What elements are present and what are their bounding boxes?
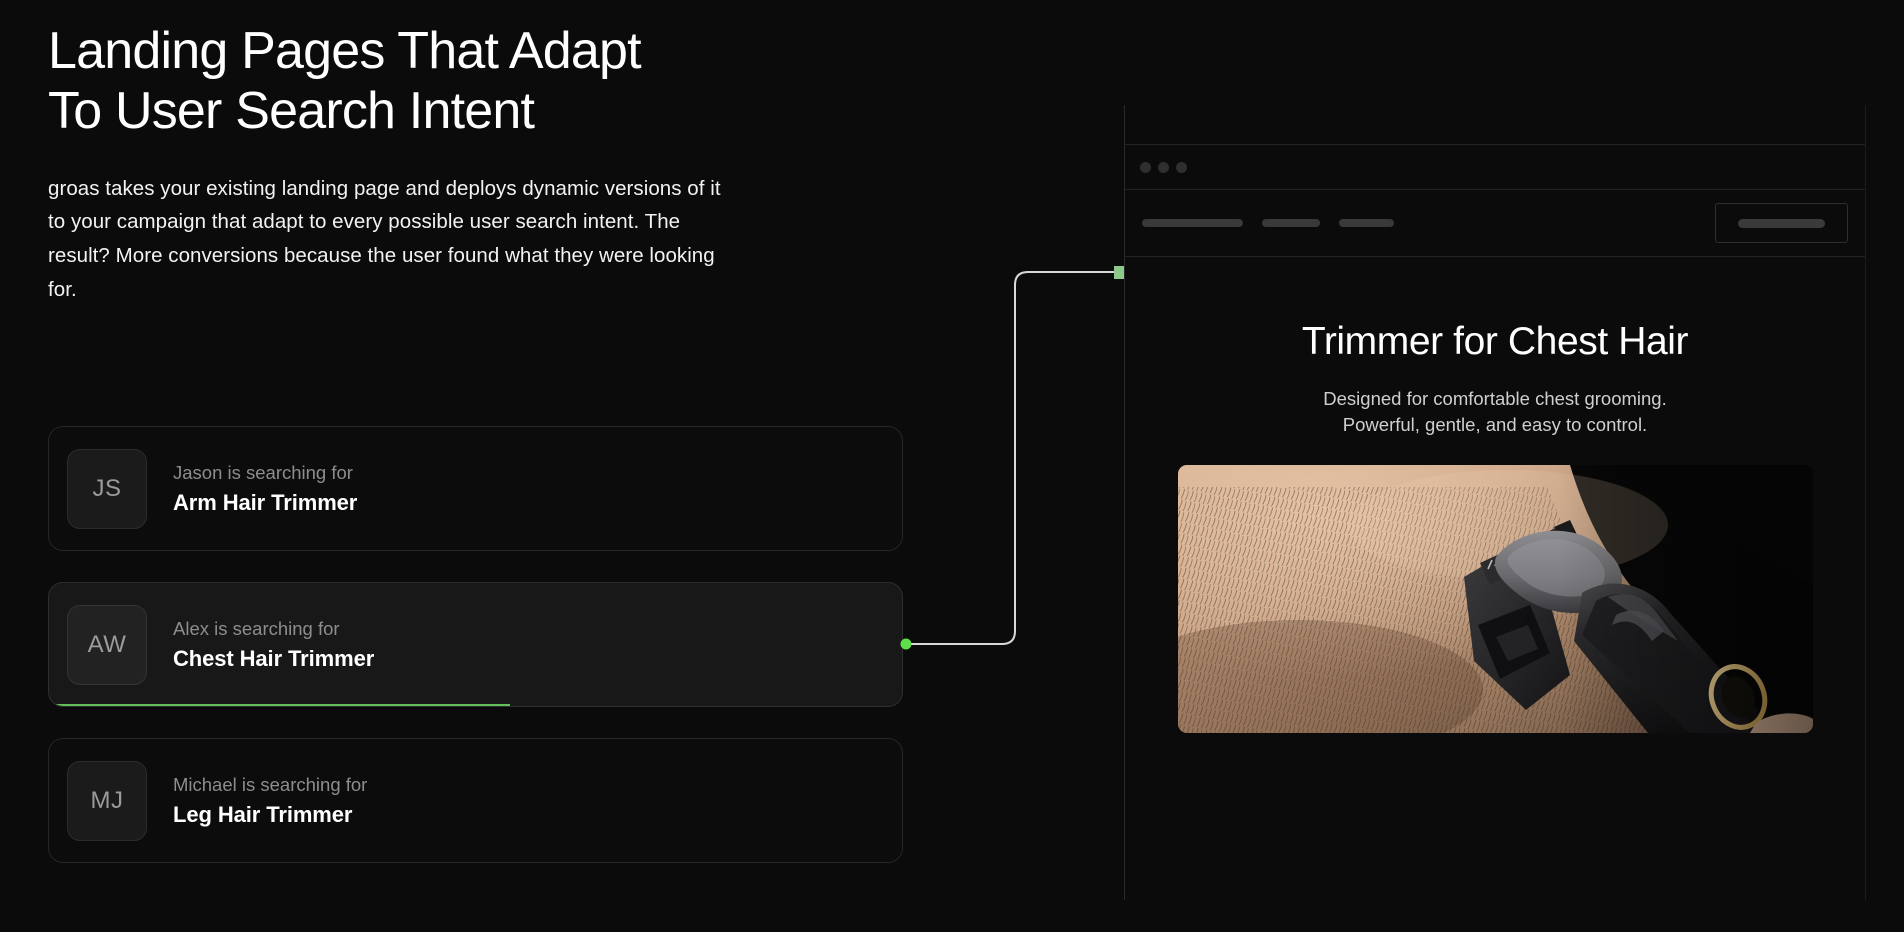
avatar: MJ [67,761,147,841]
browser-top-strip [1125,105,1865,145]
preview-navbar [1125,190,1865,257]
nav-cta-button[interactable] [1715,203,1848,243]
maximize-dot-icon[interactable] [1176,162,1187,173]
preview-page-title: Trimmer for Chest Hair [1125,321,1865,364]
page-title: Landing Pages That Adapt To User Search … [48,22,768,142]
product-image [1178,465,1813,733]
card-text-block: Alex is searching for Chest Hair Trimmer [173,617,374,673]
card-query: Chest Hair Trimmer [173,646,374,672]
search-intent-card-active[interactable]: AW Alex is searching for Chest Hair Trim… [48,582,903,707]
browser-window-controls [1125,145,1865,190]
card-query: Arm Hair Trimmer [173,490,357,516]
card-text-block: Jason is searching for Arm Hair Trimmer [173,461,357,517]
close-dot-icon[interactable] [1140,162,1151,173]
card-subtitle: Michael is searching for [173,773,367,798]
hero-copy-column: Landing Pages That Adapt To User Search … [48,22,908,307]
card-progress-bar [49,704,510,706]
card-subtitle: Alex is searching for [173,617,374,642]
nav-link-placeholder-1[interactable] [1142,219,1243,227]
headline-line-1: Landing Pages That Adapt [48,22,641,80]
search-intent-card[interactable]: JS Jason is searching for Arm Hair Trimm… [48,426,903,551]
avatar-initials: AW [88,631,127,659]
preview-subtitle-line-1: Designed for comfortable chest grooming. [1323,388,1666,409]
nav-link-placeholder-2[interactable] [1262,219,1320,227]
preview-subtitle-line-2: Powerful, gentle, and easy to control. [1125,412,1865,438]
nav-placeholder-links [1142,219,1394,227]
connector-path [880,240,1160,680]
nav-link-placeholder-3[interactable] [1339,219,1394,227]
hero-body-text: groas takes your existing landing page a… [48,172,738,307]
nav-cta-label-placeholder [1738,219,1825,228]
avatar-initials: MJ [91,787,124,815]
search-intent-card[interactable]: MJ Michael is searching for Leg Hair Tri… [48,738,903,863]
page-root: Landing Pages That Adapt To User Search … [0,0,1904,932]
card-query: Leg Hair Trimmer [173,802,367,828]
card-subtitle: Jason is searching for [173,461,357,486]
headline-line-2: To User Search Intent [48,82,768,142]
browser-preview-panel: Trimmer for Chest Hair Designed for comf… [1124,105,1866,900]
avatar: JS [67,449,147,529]
preview-page-content: Trimmer for Chest Hair Designed for comf… [1125,257,1865,733]
preview-page-subtitle: Designed for comfortable chest grooming.… [1125,386,1865,438]
avatar-initials: JS [92,475,121,503]
avatar: AW [67,605,147,685]
search-intent-card-list: JS Jason is searching for Arm Hair Trimm… [48,426,903,863]
minimize-dot-icon[interactable] [1158,162,1169,173]
card-text-block: Michael is searching for Leg Hair Trimme… [173,773,367,829]
